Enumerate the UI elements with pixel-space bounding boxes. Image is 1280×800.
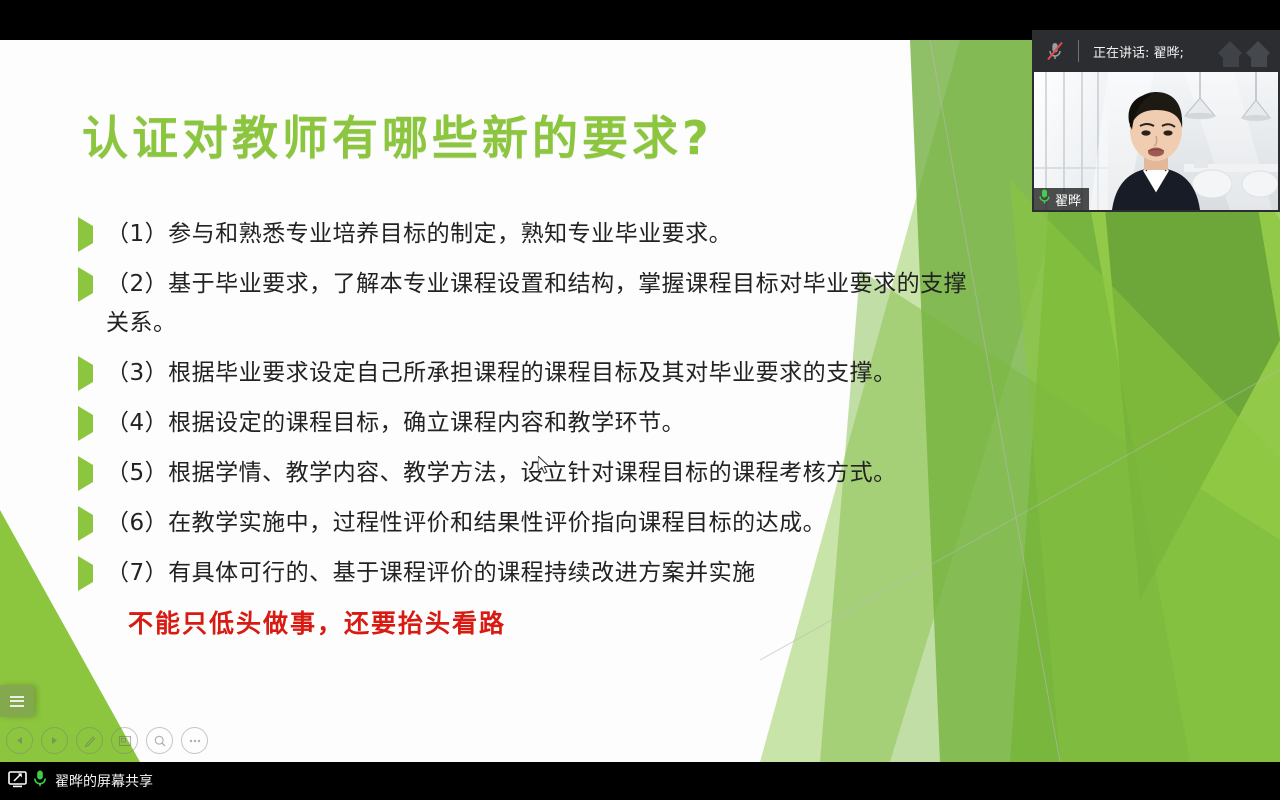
magnifier-icon	[153, 734, 167, 748]
participant-name: 翟晔	[1055, 190, 1081, 209]
meeting-screen-share-view: 认证对教师有哪些新的要求? （1）参与和熟悉专业培养目标的制定，熟知专业毕业要求…	[0, 0, 1280, 800]
slideshow-toolbar	[6, 727, 208, 754]
share-status-text: 翟晔的屏幕共享	[55, 771, 153, 791]
bullet-item: （4）根据设定的课程目标，确立课程内容和教学环节。	[78, 404, 978, 443]
triangle-bullet-icon	[78, 554, 106, 583]
list-menu-icon	[10, 693, 24, 709]
bullet-text: （3）根据毕业要求设定自己所承担课程的课程目标及其对毕业要求的支撑。	[106, 354, 978, 393]
triangle-right-icon	[49, 735, 60, 746]
triangle-bullet-icon	[78, 454, 106, 483]
header-divider	[1078, 40, 1079, 62]
triangle-bullet-icon	[78, 215, 106, 244]
bullet-text: （2）基于毕业要求，了解本专业课程设置和结构，掌握课程目标对毕业要求的支撑关系。	[106, 265, 978, 343]
participant-video-feed: 翟晔	[1034, 72, 1278, 210]
microphone-muted-icon[interactable]	[1044, 39, 1066, 63]
microphone-on-icon	[1038, 188, 1051, 210]
screen-share-icon	[8, 770, 28, 793]
bullet-item: （3）根据毕业要求设定自己所承担课程的课程目标及其对毕业要求的支撑。	[78, 354, 978, 393]
slide-title: 认证对教师有哪些新的要求?	[82, 102, 713, 168]
triangle-bullet-icon	[78, 404, 106, 433]
triangle-bullet-icon	[78, 265, 106, 294]
video-pip-panel[interactable]: 正在讲话: 翟晔;	[1032, 30, 1280, 212]
bullet-item: （5）根据学情、教学内容、教学方法，设立针对课程目标的课程考核方式。	[78, 454, 978, 493]
slide-grid-button[interactable]	[111, 727, 138, 754]
double-chevron-icon[interactable]	[1218, 35, 1276, 72]
slideshow-menu-button[interactable]	[0, 685, 34, 717]
bullet-text: （4）根据设定的课程目标，确立课程内容和教学环节。	[106, 404, 978, 443]
grid-icon	[118, 734, 132, 748]
bullet-text: （7）有具体可行的、基于课程评价的课程持续改进方案并实施	[106, 554, 978, 593]
pen-tool-button[interactable]	[76, 727, 103, 754]
microphone-on-icon	[33, 769, 47, 793]
slide-bullet-list: （1）参与和熟悉专业培养目标的制定，熟知专业毕业要求。 （2）基于毕业要求，了解…	[78, 215, 978, 640]
triangle-bullet-icon	[78, 354, 106, 383]
pip-header: 正在讲话: 翟晔;	[1032, 30, 1280, 72]
bullet-text: （6）在教学实施中，过程性评价和结果性评价指向课程目标的达成。	[106, 504, 978, 543]
bullet-item: （7）有具体可行的、基于课程评价的课程持续改进方案并实施	[78, 554, 978, 593]
share-status-bar: 翟晔的屏幕共享	[0, 762, 1280, 800]
bullet-text: （1）参与和熟悉专业培养目标的制定，熟知专业毕业要求。	[106, 215, 978, 254]
next-slide-button[interactable]	[41, 727, 68, 754]
speaking-status-label: 正在讲话: 翟晔;	[1093, 42, 1184, 61]
bullet-item: （2）基于毕业要求，了解本专业课程设置和结构，掌握课程目标对毕业要求的支撑关系。	[78, 265, 978, 343]
participant-name-chip: 翟晔	[1034, 188, 1089, 210]
arrow-cursor-icon	[538, 456, 554, 483]
emphasis-text: 不能只低头做事，还要抬头看路	[128, 604, 978, 640]
bullet-item: （1）参与和熟悉专业培养目标的制定，熟知专业毕业要求。	[78, 215, 978, 254]
pen-icon	[83, 734, 97, 748]
bullet-item: （6）在教学实施中，过程性评价和结果性评价指向课程目标的达成。	[78, 504, 978, 543]
triangle-bullet-icon	[78, 504, 106, 533]
triangle-left-icon	[14, 735, 25, 746]
ellipsis-icon	[188, 738, 202, 744]
zoom-button[interactable]	[146, 727, 173, 754]
previous-slide-button[interactable]	[6, 727, 33, 754]
more-options-button[interactable]	[181, 727, 208, 754]
